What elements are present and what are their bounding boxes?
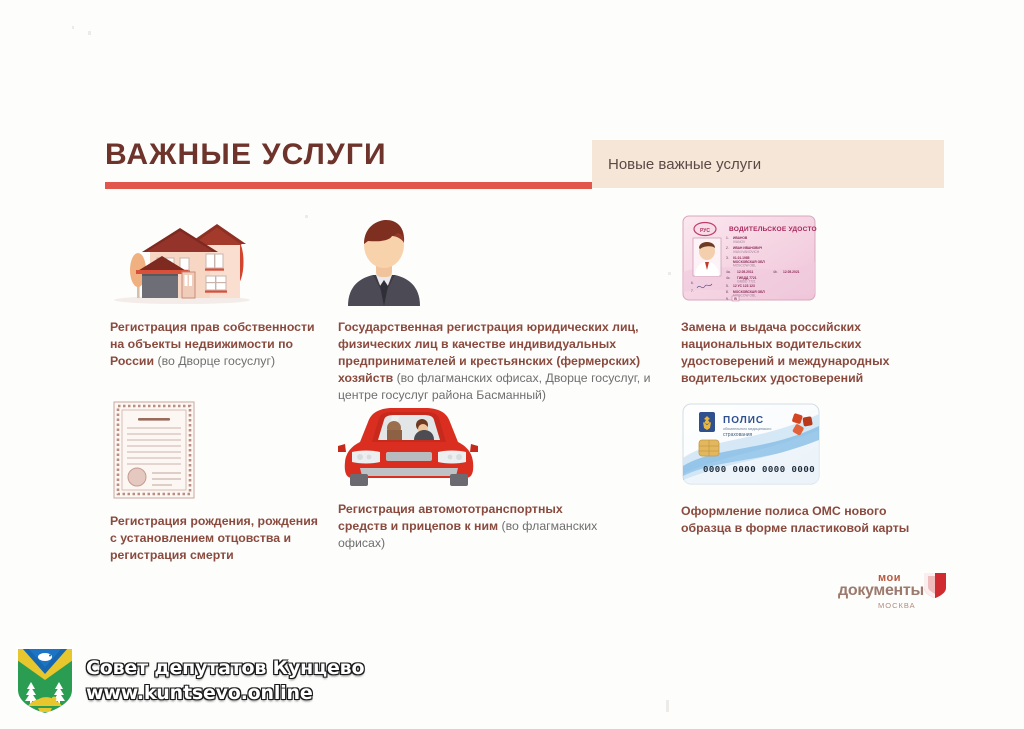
certificate-icon (110, 400, 325, 505)
svg-text:B: B (734, 297, 737, 301)
svg-text:ВОДИТЕЛЬСКОЕ УДОСТОВЕРЕНИЕ: ВОДИТЕЛЬСКОЕ УДОСТОВЕРЕНИЕ (729, 226, 817, 233)
svg-text:4c.: 4c. (726, 276, 730, 280)
svg-text:9.: 9. (726, 297, 729, 301)
new-services-banner: Новые важные услуги (592, 140, 944, 188)
svg-text:MOSCOW OBL: MOSCOW OBL (733, 264, 756, 268)
paper-speck (88, 31, 91, 35)
businessman-icon (338, 214, 668, 311)
service-card-vehicle-registration[interactable]: Регистрация автомототранспортных средств… (338, 400, 598, 552)
mfc-logo-line-documents: документы (838, 582, 924, 600)
new-services-banner-label: Новые важные услуги (592, 156, 761, 173)
car-icon (338, 400, 598, 493)
page-title: ВАЖНЫЕ УСЛУГИ (105, 138, 387, 172)
service-card-legal-entity-registration[interactable]: Государственная регистрация юридических … (338, 214, 668, 404)
svg-text:5.: 5. (726, 284, 729, 288)
document-page: ВАЖНЫЕ УСЛУГИ Новые важные услуги (0, 0, 1024, 729)
svg-text:4a.: 4a. (726, 270, 731, 274)
service-text: Регистрация автомототранспортных средств… (338, 501, 598, 552)
service-card-birth-death-registration[interactable]: Регистрация рождения, рождения с установ… (110, 400, 325, 564)
svg-text:7.: 7. (691, 289, 694, 293)
svg-text:2.: 2. (726, 246, 729, 250)
svg-text:страхования: страхования (723, 432, 753, 438)
svg-text:1.: 1. (726, 236, 729, 240)
svg-text:РУС: РУС (700, 228, 710, 234)
svg-text:0000 0000 0000 0000: 0000 0000 0000 0000 (703, 465, 815, 475)
svg-text:ПОЛИС: ПОЛИС (723, 415, 764, 426)
paper-speck (668, 272, 671, 275)
watermark-line-1: Совет депутатов Кунцево (86, 656, 364, 681)
paper-speck (666, 700, 669, 712)
service-card-driver-license[interactable]: РУС ВОДИТЕЛЬСКОЕ УДОСТОВЕРЕНИЕ 1.ИВАНОВ … (681, 214, 931, 387)
service-title: Замена и выдача российских национальных … (681, 320, 889, 385)
title-underline-rule (105, 182, 592, 189)
service-subtitle: (во Дворце госуслуг) (157, 354, 275, 368)
svg-text:12 УС 123 123: 12 УС 123 123 (733, 284, 755, 288)
service-text: Замена и выдача российских национальных … (681, 319, 931, 387)
mfc-logo: мои документы МОСКВА (838, 572, 948, 616)
mfc-logo-line-city: МОСКВА (878, 601, 916, 610)
service-title: Оформление полиса ОМС нового образца в ф… (681, 504, 909, 535)
paper-speck (72, 26, 74, 29)
house-icon (110, 214, 325, 311)
svg-text:6.: 6. (691, 281, 694, 285)
watermark: Совет депутатов Кунцево www.kuntsevo.onl… (14, 646, 364, 716)
service-card-oms-policy[interactable]: ПОЛИС обязательного медицинского страхов… (681, 400, 931, 537)
svg-text:IVANOV: IVANOV (733, 240, 746, 244)
service-text: Регистрация рождения, рождения с установ… (110, 513, 325, 564)
kuntsevo-coat-of-arms-icon (14, 646, 76, 716)
svg-text:12.05.2021: 12.05.2021 (783, 270, 800, 274)
oms-policy-card-icon: ПОЛИС обязательного медицинского страхов… (681, 400, 931, 493)
svg-text:обязательного медицинского: обязательного медицинского (723, 427, 771, 431)
service-text: Регистрация прав собственности на объект… (110, 319, 325, 370)
watermark-text: Совет депутатов Кунцево www.kuntsevo.onl… (86, 656, 364, 706)
service-text: Государственная регистрация юридических … (338, 319, 668, 404)
driver-license-icon: РУС ВОДИТЕЛЬСКОЕ УДОСТОВЕРЕНИЕ 1.ИВАНОВ … (681, 214, 931, 307)
watermark-line-2: www.kuntsevo.online (86, 681, 364, 706)
svg-text:3.: 3. (726, 256, 729, 260)
service-text: Оформление полиса ОМС нового образца в ф… (681, 503, 931, 537)
svg-text:4b.: 4b. (773, 270, 778, 274)
svg-text:12.05.2011: 12.05.2011 (737, 270, 753, 274)
svg-text:GIBDD 7721: GIBDD 7721 (737, 280, 756, 284)
svg-text:IVAN IVANOVICH: IVAN IVANOVICH (733, 250, 760, 254)
svg-text:8.: 8. (726, 290, 729, 294)
service-card-property-registration[interactable]: Регистрация прав собственности на объект… (110, 214, 325, 370)
mfc-shield-icon (922, 570, 948, 600)
service-title: Регистрация рождения, рождения с установ… (110, 514, 318, 562)
